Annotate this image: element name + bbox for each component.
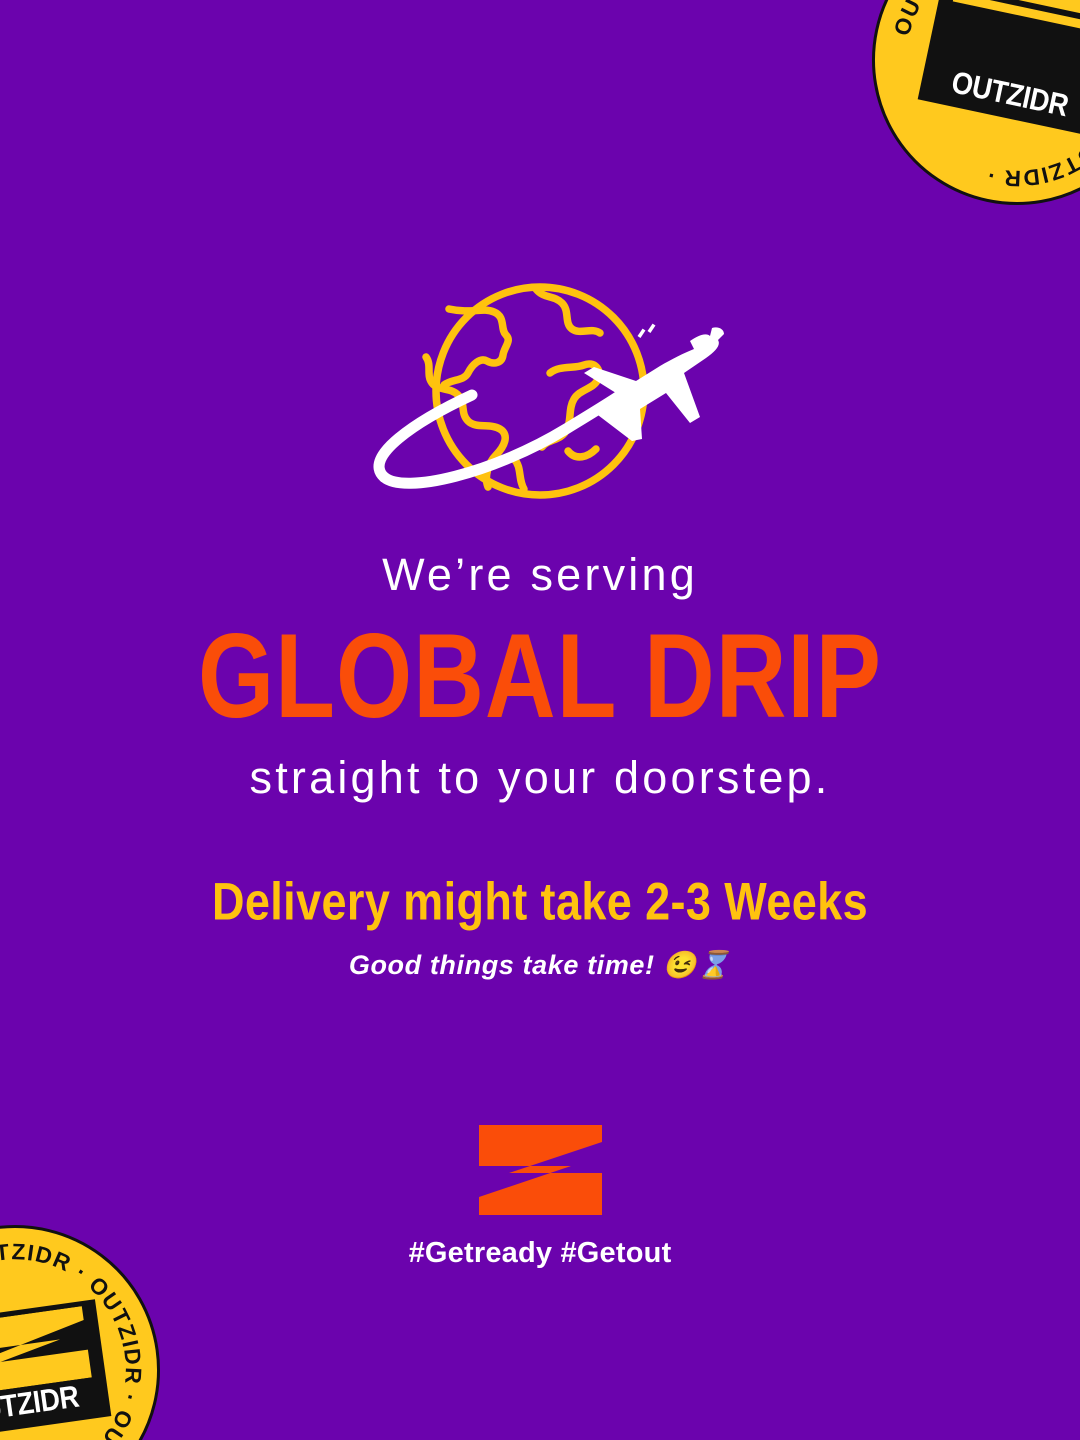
globe-meridian-left xyxy=(514,459,524,489)
orbit-trail xyxy=(379,394,622,483)
delivery-subnote: Good things take time! 😉⌛ xyxy=(0,949,1080,981)
airplane-icon xyxy=(584,324,724,441)
copy-block: We’re serving GLOBAL DRIP straight to yo… xyxy=(0,548,1080,981)
footer-block: #Getready #Getout xyxy=(0,1125,1080,1270)
doorstep-line: straight to your doorstep. xyxy=(0,751,1080,805)
outzidr-z-logo-icon xyxy=(479,1125,602,1215)
page-title: GLOBAL DRIP xyxy=(0,613,1080,740)
globe-landmass-lower-right xyxy=(568,449,596,457)
serving-line: We’re serving xyxy=(0,548,1080,601)
globe-landmass-top xyxy=(536,289,600,333)
outzidr-sticker-top-right: OUTZIDR · OUTZIDR · OUTZIDR · OUTZIDR · … xyxy=(845,0,1080,232)
globe-landmass-upper-left xyxy=(444,309,508,385)
poster-canvas: OUTZIDR · OUTZIDR · OUTZIDR · OUTZIDR · … xyxy=(0,0,1080,1440)
globe-with-airplane-icon xyxy=(354,281,726,513)
delivery-notice: Delivery might take 2-3 Weeks xyxy=(0,871,1080,932)
globe-outline xyxy=(436,287,644,495)
hashtags: #Getready #Getout xyxy=(0,1237,1080,1270)
